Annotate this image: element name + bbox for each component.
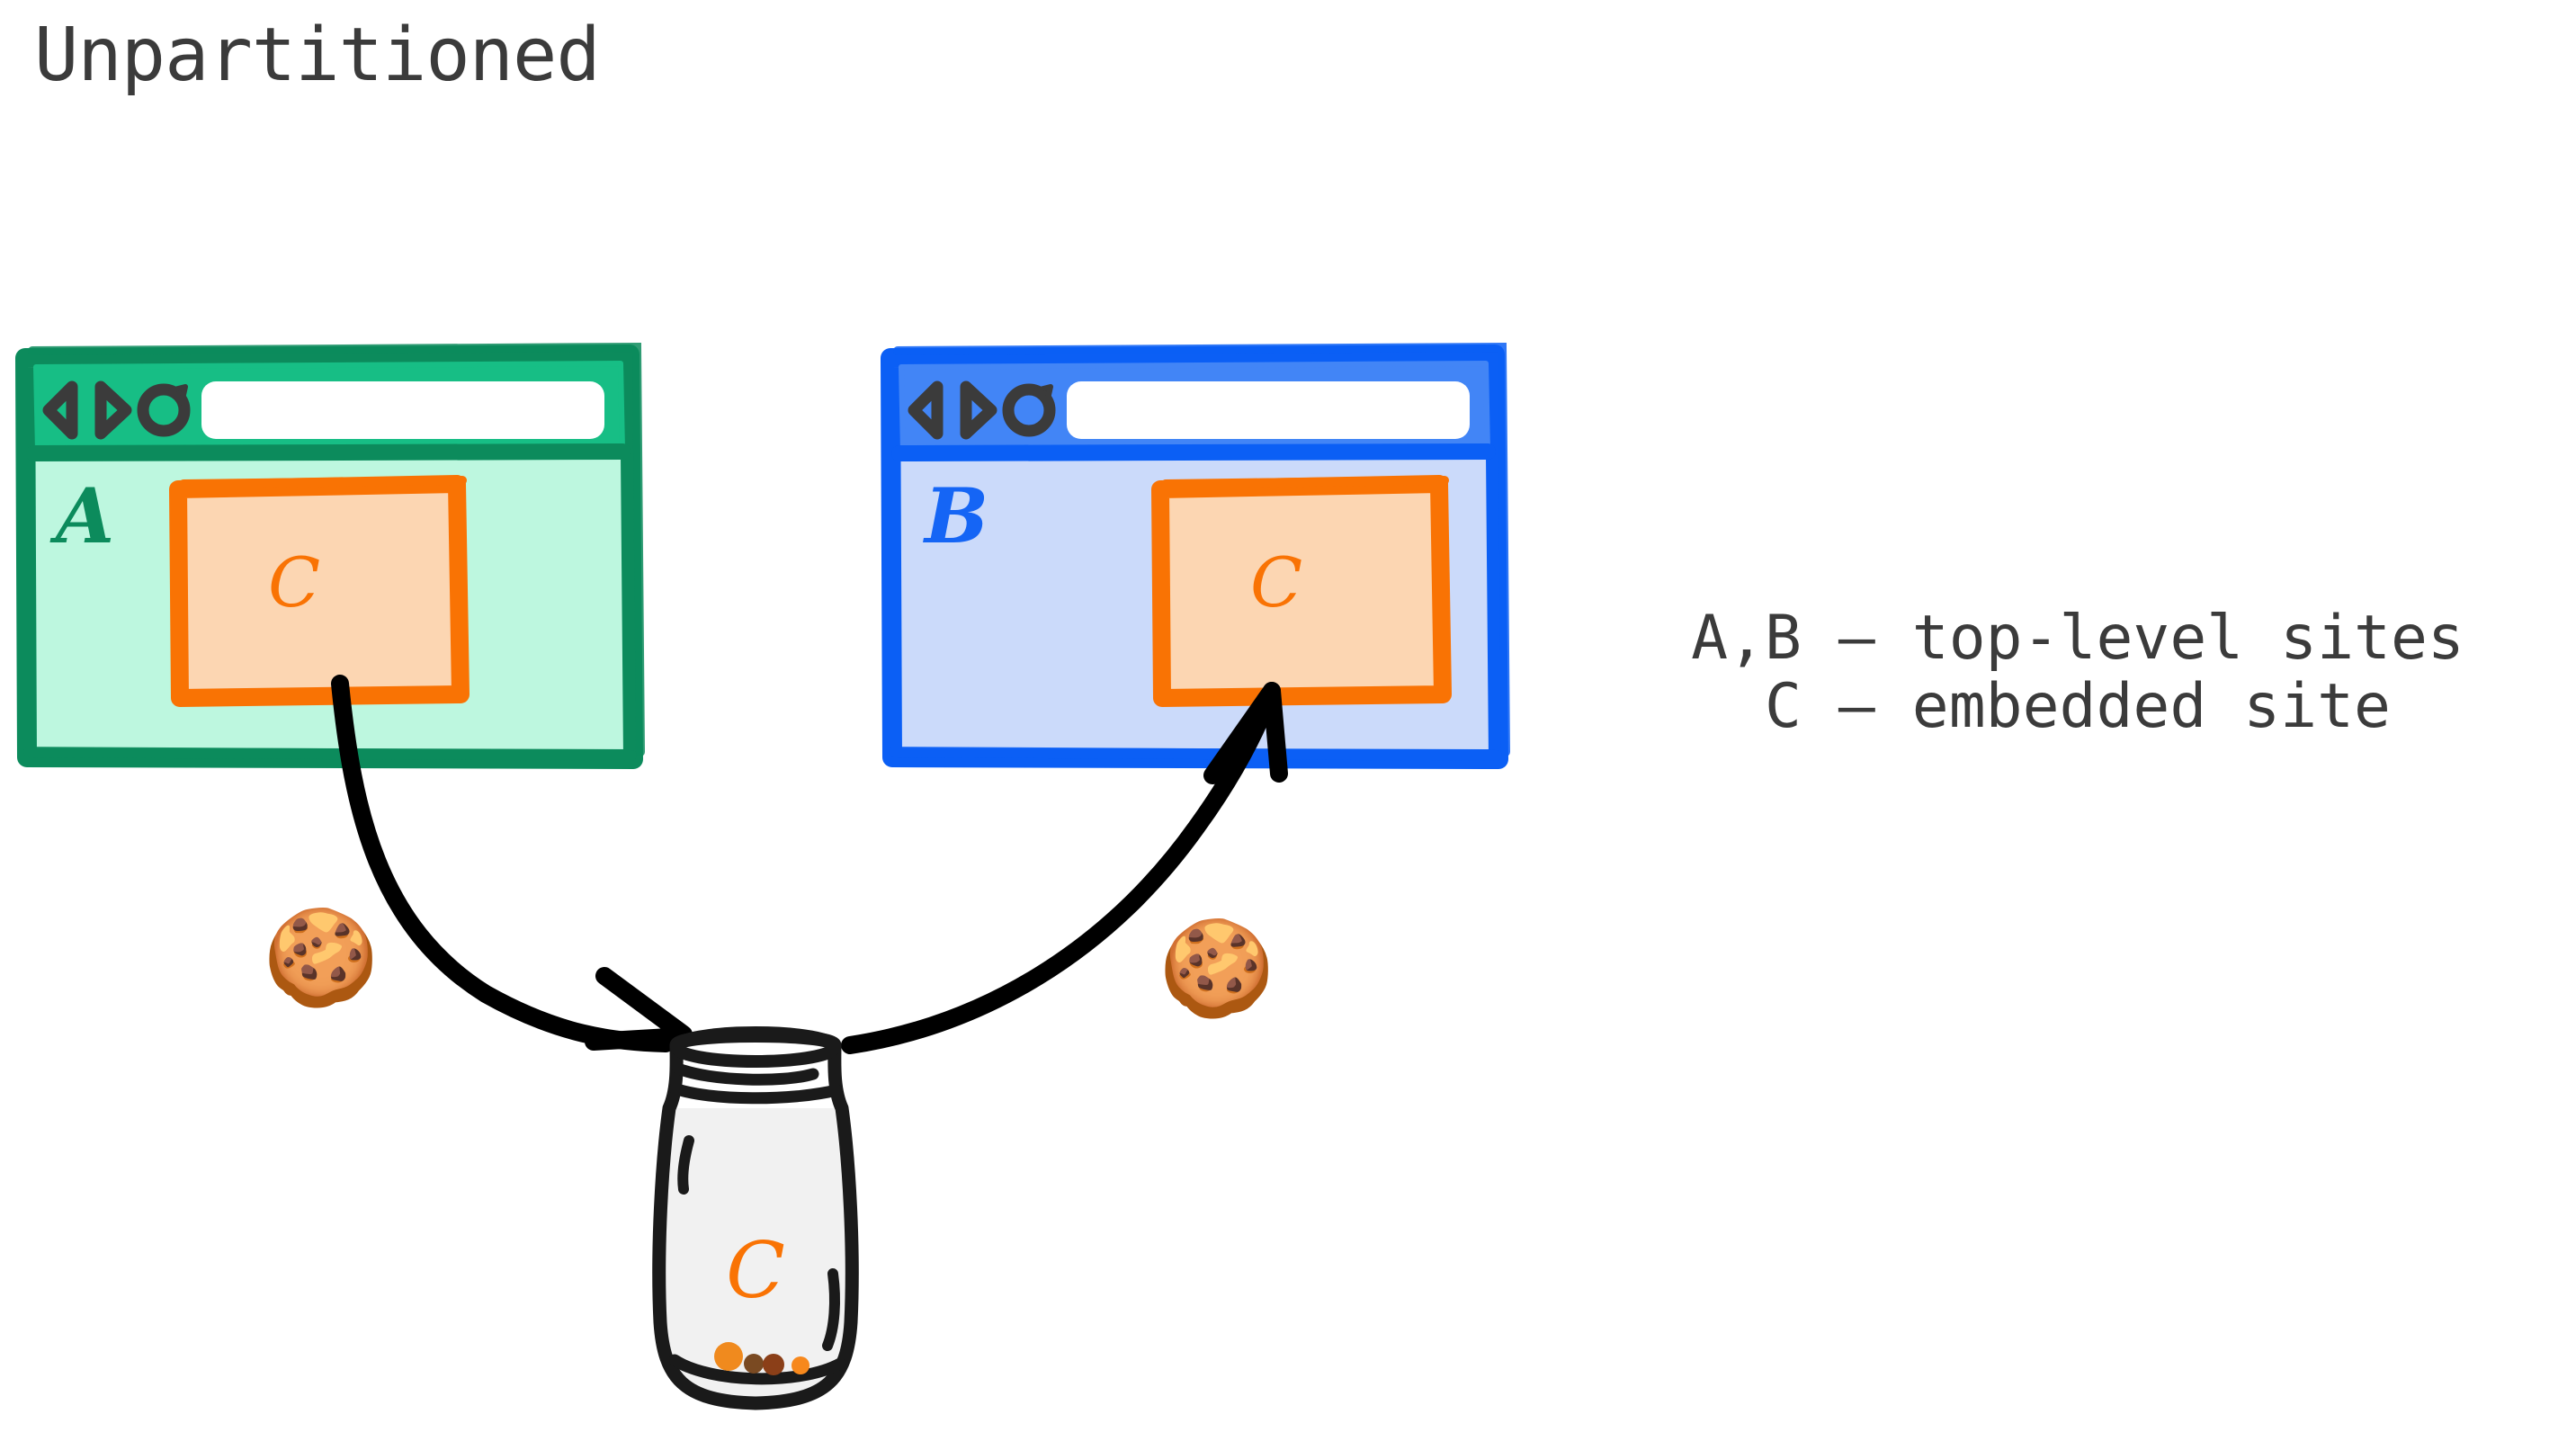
legend: A,B — top-level sites C — embedded site (1610, 604, 2545, 741)
jar-thread-2 (675, 1088, 836, 1098)
cookie-icon-left: 🍪 (263, 910, 380, 1004)
jar-rim (676, 1033, 835, 1061)
jar-thread-1 (678, 1069, 813, 1079)
address-bar[interactable] (201, 381, 604, 439)
page-title: Unpartitioned (34, 13, 600, 98)
legend-line-top-level: A,B — top-level sites (1610, 604, 2545, 673)
cookie-jar (621, 1025, 890, 1425)
address-bar[interactable] (1067, 381, 1470, 439)
window-b-embedded-c-box: C (1149, 477, 1455, 711)
legend-line-embedded: C — embedded site (1610, 673, 2545, 741)
jar-highlight-left (683, 1141, 689, 1189)
window-a-embedded-c-box: C (167, 477, 473, 711)
cookie-icon-right: 🍪 (1158, 921, 1275, 1015)
